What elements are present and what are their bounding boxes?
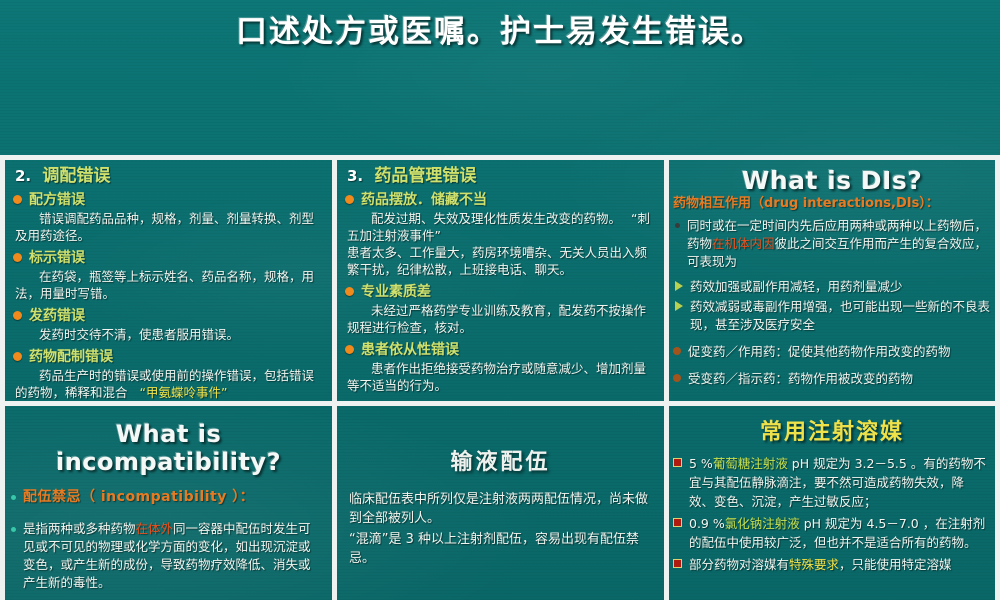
panel-infusion-compatibility: 输液配伍 临床配伍表中所列仅是注射液两两配伍情况，尚未做到全部被列人。 “混滴”… — [337, 406, 664, 600]
item-body: 发药时交待不清，使患者服用错误。 — [15, 326, 324, 343]
item-body: 同时或在一定时间内先后应用两种或两种以上药物后，药物在机体内因彼此之间交互作用而… — [687, 217, 995, 271]
list-item: 专业素质差 — [337, 283, 664, 301]
item-body-text: 配发过期、失效及理化性质发生改变的药物。 — [371, 211, 621, 226]
item-body-quote: “甲氨蝶呤事件” — [140, 385, 228, 400]
section-heading-drug-management: 3. 药品管理错误 — [347, 166, 664, 186]
item-body-pre: 是指两种或多种药物 — [23, 521, 136, 536]
item-label: 配方错误 — [29, 191, 85, 209]
bullet-dot-icon — [345, 287, 354, 296]
item-body-highlight: 在体外 — [136, 521, 174, 536]
item-body: 药效加强或副作用减轻，用药剂量减少 — [690, 278, 903, 296]
bullet-dot-icon — [11, 527, 16, 532]
panel-drug-management-errors: 3. 药品管理错误 药品摆放．储藏不当 配发过期、失效及理化性质发生改变的药物。… — [337, 160, 664, 401]
panel-dispensing-errors: 2. 调配错误 配方错误 错误调配药品品种，规格，剂量、剂量转换、剂型及用药途径… — [5, 160, 332, 401]
list-item: 0.9 %氯化钠注射液 pH 规定为 4.5－7.0 ，在注射剂的配伍中使用较广… — [669, 514, 995, 552]
list-item: 部分药物对溶媒有特殊要求，只能使用特定溶媒 — [669, 555, 995, 574]
bullet-dot-icon — [675, 223, 680, 228]
item-label: 发药错误 — [29, 307, 85, 325]
list-item: 发药错误 — [5, 307, 332, 325]
list-item: 受变药／指示药：药物作用被改变的药物 — [669, 370, 995, 388]
item-body: 未经过严格药学专业训练及教育，配发药不按操作规程进行检查，核对。 — [347, 302, 656, 336]
panel-what-is-incompatibility: What is incompatibility? 配伍禁忌（ incompati… — [5, 406, 332, 600]
bullet-dot-icon — [345, 345, 354, 354]
paragraph-1: 临床配伍表中所列仅是注射液两两配伍情况，尚未做到全部被列人。 — [349, 490, 654, 528]
bullet-square-icon — [673, 458, 682, 467]
item-body-pre: 部分药物对溶媒有 — [689, 557, 789, 572]
item-body: 5 %葡萄糖注射液 pH 规定为 3.2－5.5 。有的药物不宜与其配伍静脉滴注… — [689, 454, 987, 511]
list-item: 是指两种或多种药物在体外同一容器中配伍时发生可见或不可见的物理或化学方面的变化，… — [5, 520, 332, 592]
bullet-dot-icon — [345, 195, 354, 204]
item-body-post: ，只能使用特定溶媒 — [839, 557, 952, 572]
paragraph-2: “混滴”是 3 种以上注射剂配伍，容易出现有配伍禁忌。 — [349, 530, 654, 568]
item-body: 患者作出拒绝接受药物治疗或随意减少、增加剂量等不适当的行为。 — [347, 360, 656, 394]
item-body-highlight: 在机体内因 — [712, 236, 775, 251]
section-title: 调配错误 — [42, 166, 110, 186]
bullet-dot-icon — [673, 347, 681, 355]
arrow-right-icon — [675, 281, 683, 291]
item-body: 部分药物对溶媒有特殊要求，只能使用特定溶媒 — [689, 555, 952, 574]
section-heading-dispensing: 2. 调配错误 — [15, 166, 332, 186]
list-item: 配伍禁忌（ incompatibility ）： — [5, 488, 332, 506]
item-body-pre: 5 % — [689, 456, 713, 471]
list-item: 促变药／作用药：促使其他药物作用改变的药物 — [669, 343, 995, 361]
bullet-dot-icon — [11, 495, 16, 500]
list-item: 药品摆放．储藏不当 — [337, 191, 664, 209]
slide-header: 口述处方或医嘱。护士易发生错误。 — [0, 0, 1000, 155]
bullet-square-icon — [673, 518, 682, 527]
list-item: 患者依从性错误 — [337, 341, 664, 359]
item-body: 药效减弱或毒副作用增强，也可能出现一些新的不良表现，甚至涉及医疗安全 — [690, 298, 995, 334]
panel-subtitle: 药物相互作用（drug interactions,DIs）： — [673, 195, 989, 213]
item-body-highlight: 特殊要求 — [789, 557, 839, 572]
panel-common-injection-solvents: 常用注射溶媒 5 %葡萄糖注射液 pH 规定为 3.2－5.5 。有的药物不宜与… — [669, 406, 995, 600]
section-title: 药品管理错误 — [374, 166, 476, 186]
item-body: 错误调配药品品种，规格，剂量、剂量转换、剂型及用药途径。 — [15, 210, 324, 244]
item-body: 受变药／指示药：药物作用被改变的药物 — [688, 370, 913, 388]
item-label: 标示错误 — [29, 249, 85, 267]
item-body: 药品生产时的错误或使用前的操作错误，包括错误的药物，稀释和混合“甲氨蝶呤事件” — [15, 367, 324, 401]
bullet-square-icon — [673, 559, 682, 568]
list-item: 配方错误 — [5, 191, 332, 209]
panel-title-what-is-incompatibility: What is incompatibility? — [5, 420, 332, 476]
panel-subtitle: 配伍禁忌（ incompatibility ）： — [23, 488, 254, 506]
panel-title-infusion-compatibility: 输液配伍 — [337, 444, 664, 476]
item-body-highlight: 葡萄糖注射液 — [713, 456, 788, 471]
section-number: 3. — [347, 167, 363, 185]
item-body: 是指两种或多种药物在体外同一容器中配伍时发生可见或不可见的物理或化学方面的变化，… — [23, 520, 322, 592]
bullet-dot-icon — [13, 352, 22, 361]
section-number: 2. — [15, 167, 31, 185]
arrow-right-icon — [675, 301, 683, 311]
item-label: 患者依从性错误 — [361, 341, 459, 359]
list-item: 药效减弱或毒副作用增强，也可能出现一些新的不良表现，甚至涉及医疗安全 — [669, 298, 995, 334]
item-body: 配发过期、失效及理化性质发生改变的药物。“刺五加注射液事件” — [347, 210, 656, 244]
panel-what-is-dis: What is DIs? 药物相互作用（drug interactions,DI… — [669, 160, 995, 401]
list-item: 药效加强或副作用减轻，用药剂量减少 — [669, 278, 995, 296]
list-item: 同时或在一定时间内先后应用两种或两种以上药物后，药物在机体内因彼此之间交互作用而… — [669, 217, 995, 271]
bullet-dot-icon — [13, 311, 22, 320]
list-item: 5 %葡萄糖注射液 pH 规定为 3.2－5.5 。有的药物不宜与其配伍静脉滴注… — [669, 454, 995, 511]
panel-title-common-solvents: 常用注射溶媒 — [669, 414, 995, 446]
divider-vertical-right-edge — [995, 155, 1000, 600]
panel-title-what-is-dis: What is DIs? — [669, 166, 995, 195]
item-body: 在药袋，瓶签等上标示姓名、药品名称，规格，用法，用量时写错。 — [15, 268, 324, 302]
bullet-dot-icon — [673, 374, 681, 382]
item-body: 0.9 %氯化钠注射液 pH 规定为 4.5－7.0 ，在注射剂的配伍中使用较广… — [689, 514, 987, 552]
bullet-dot-icon — [13, 253, 22, 262]
list-item: 标示错误 — [5, 249, 332, 267]
page-title: 口述处方或医嘱。护士易发生错误。 — [0, 6, 1000, 51]
bullet-dot-icon — [13, 195, 22, 204]
item-body-extra: 患者太多、工作量大，药房环境嘈杂、无关人员出入频繁干扰，纪律松散，上班接电话、聊… — [347, 244, 656, 278]
item-body-pre: 0.9 % — [689, 516, 725, 531]
item-label: 专业素质差 — [361, 283, 431, 301]
item-label: 药物配制错误 — [29, 348, 113, 366]
item-body: 促变药／作用药：促使其他药物作用改变的药物 — [688, 343, 951, 361]
item-body-highlight: 氯化钠注射液 — [725, 516, 800, 531]
list-item: 药物配制错误 — [5, 348, 332, 366]
item-label: 药品摆放．储藏不当 — [361, 191, 487, 209]
